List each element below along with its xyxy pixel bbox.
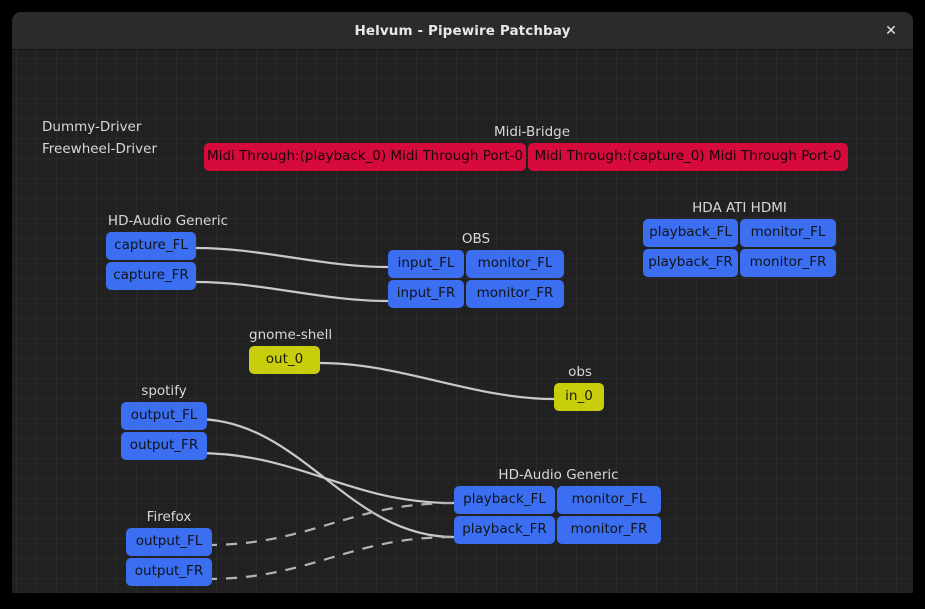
app-window: Helvum - Pipewire Patchbay ✕ Dummy-Drive…: [12, 12, 913, 593]
driver-labels: Dummy-Driver Freewheel-Driver: [42, 116, 157, 160]
port-spotify-output-fr[interactable]: output_FR: [121, 432, 207, 460]
port-capture-fl[interactable]: capture_FL: [106, 232, 196, 260]
port-grid-firefox: output_FL output_FR: [126, 528, 212, 586]
driver-label-freewheel: Freewheel-Driver: [42, 138, 157, 160]
port-grid-gnome-shell: out_0: [249, 346, 332, 374]
port-row: playback_FR monitor_FR: [454, 516, 663, 544]
port-obs-input-fr[interactable]: input_FR: [388, 280, 464, 308]
port-hda-playback-fr[interactable]: playback_FR: [454, 516, 555, 544]
node-obs[interactable]: OBS input_FL monitor_FL input_FR monitor…: [388, 231, 564, 308]
port-hdmi-playback-fl[interactable]: playback_FL: [643, 219, 738, 247]
port-grid-hd-audio-playback: playback_FL monitor_FL playback_FR monit…: [454, 486, 663, 544]
port-row: output_FR: [126, 558, 212, 586]
node-firefox[interactable]: Firefox output_FL output_FR: [126, 509, 212, 586]
link-gnome-out0-obs-in0: [320, 363, 555, 399]
port-firefox-output-fl[interactable]: output_FL: [126, 528, 212, 556]
node-title-spotify: spotify: [121, 383, 207, 399]
node-title-hd-audio-capture: HD-Audio Generic: [106, 213, 230, 229]
port-grid-midi-bridge: Midi Through:(playback_0) Midi Through P…: [204, 143, 860, 171]
port-hda-monitor-fr[interactable]: monitor_FR: [557, 516, 661, 544]
node-title-hd-audio-playback: HD-Audio Generic: [454, 467, 663, 483]
link-firefox-fl-playback-fl: [206, 503, 454, 545]
title-bar[interactable]: Helvum - Pipewire Patchbay ✕: [12, 12, 913, 50]
port-obs-monitor-fl[interactable]: monitor_FL: [466, 250, 564, 278]
port-obs-monitor-fr[interactable]: monitor_FR: [466, 280, 564, 308]
node-title-firefox: Firefox: [126, 509, 212, 525]
port-row: capture_FR: [106, 262, 230, 290]
node-obs-video[interactable]: obs in_0: [554, 364, 606, 411]
port-row: playback_FL monitor_FL: [643, 219, 836, 247]
port-row: playback_FR monitor_FR: [643, 249, 836, 277]
port-grid-hd-audio-capture: capture_FL capture_FR: [106, 232, 230, 290]
port-row: in_0: [554, 383, 606, 411]
node-spotify[interactable]: spotify output_FL output_FR: [121, 383, 207, 460]
port-row: output_FR: [121, 432, 207, 460]
graph-canvas[interactable]: Dummy-Driver Freewheel-Driver Midi-Bridg…: [12, 50, 913, 593]
port-row: output_FL: [121, 402, 207, 430]
port-midi-capture-0[interactable]: Midi Through:(capture_0) Midi Through Po…: [528, 143, 848, 171]
port-row: output_FL: [126, 528, 212, 556]
driver-label-dummy: Dummy-Driver: [42, 116, 157, 138]
link-firefox-fr-playback-fr: [206, 537, 454, 579]
port-row: input_FR monitor_FR: [388, 280, 564, 308]
node-midi-bridge[interactable]: Midi-Bridge Midi Through:(playback_0) Mi…: [204, 124, 860, 171]
node-title-gnome-shell: gnome-shell: [249, 327, 332, 343]
node-title-midi-bridge: Midi-Bridge: [204, 124, 860, 140]
port-hdmi-monitor-fr[interactable]: monitor_FR: [740, 249, 836, 277]
port-firefox-output-fr[interactable]: output_FR: [126, 558, 212, 586]
node-hd-audio-generic-playback[interactable]: HD-Audio Generic playback_FL monitor_FL …: [454, 467, 663, 544]
port-row: out_0: [249, 346, 332, 374]
port-hdmi-playback-fr[interactable]: playback_FR: [643, 249, 738, 277]
close-icon[interactable]: ✕: [877, 17, 905, 45]
port-grid-obs: input_FL monitor_FL input_FR monitor_FR: [388, 250, 564, 308]
node-title-hda-ati-hdmi: HDA ATI HDMI: [643, 200, 836, 216]
link-spotify-fr-playback-fl: [196, 453, 454, 503]
port-midi-playback-0[interactable]: Midi Through:(playback_0) Midi Through P…: [204, 143, 526, 171]
port-row: playback_FL monitor_FL: [454, 486, 663, 514]
port-obs-in-0[interactable]: in_0: [554, 383, 604, 411]
node-hd-audio-generic-capture[interactable]: HD-Audio Generic capture_FL capture_FR: [106, 213, 230, 290]
link-spotify-fl-playback-fr: [196, 419, 454, 537]
port-hda-monitor-fl[interactable]: monitor_FL: [557, 486, 661, 514]
node-title-obs: OBS: [388, 231, 564, 247]
port-obs-input-fl[interactable]: input_FL: [388, 250, 464, 278]
port-grid-hda-ati-hdmi: playback_FL monitor_FL playback_FR monit…: [643, 219, 836, 277]
port-row: Midi Through:(playback_0) Midi Through P…: [204, 143, 860, 171]
port-hda-playback-fl[interactable]: playback_FL: [454, 486, 555, 514]
port-hdmi-monitor-fl[interactable]: monitor_FL: [740, 219, 836, 247]
port-row: input_FL monitor_FL: [388, 250, 564, 278]
port-capture-fr[interactable]: capture_FR: [106, 262, 196, 290]
port-gnome-out-0[interactable]: out_0: [249, 346, 320, 374]
port-row: capture_FL: [106, 232, 230, 260]
node-title-obs-video: obs: [554, 364, 606, 380]
port-grid-spotify: output_FL output_FR: [121, 402, 207, 460]
node-hda-ati-hdmi[interactable]: HDA ATI HDMI playback_FL monitor_FL play…: [643, 200, 836, 277]
port-grid-obs-video: in_0: [554, 383, 606, 411]
window-title: Helvum - Pipewire Patchbay: [355, 23, 571, 39]
node-gnome-shell[interactable]: gnome-shell out_0: [249, 327, 332, 374]
port-spotify-output-fl[interactable]: output_FL: [121, 402, 207, 430]
